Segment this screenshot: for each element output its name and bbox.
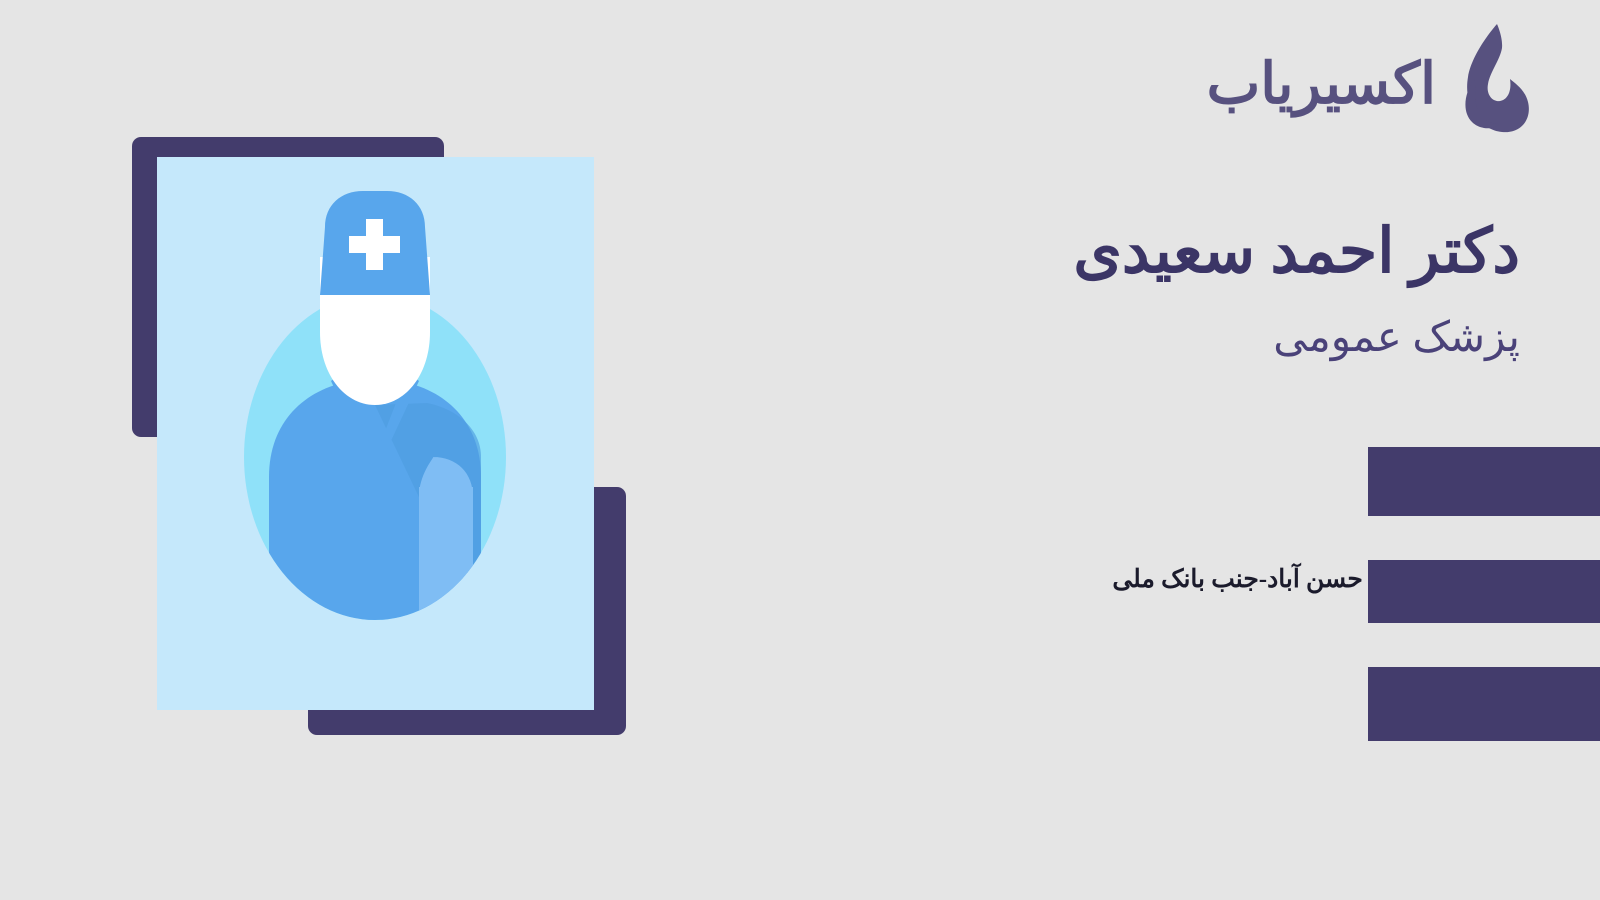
- doctor-info: دکتر احمد سعیدی پزشک عمومی: [780, 214, 1520, 366]
- decorative-bar-3: [1368, 667, 1600, 741]
- flame-drop-icon: [1450, 22, 1530, 134]
- doctor-illustration: [0, 0, 700, 900]
- brand-logo[interactable]: اکسیریاب: [1207, 22, 1530, 134]
- decorative-bar-1: [1368, 447, 1600, 516]
- decorative-bar-2: [1368, 560, 1600, 623]
- doctor-specialty: پزشک عمومی: [780, 310, 1520, 367]
- brand-name: اکسیریاب: [1207, 56, 1436, 113]
- profile-banner: اکسیریاب: [0, 0, 1600, 900]
- doctor-name: دکتر احمد سعیدی: [780, 214, 1520, 292]
